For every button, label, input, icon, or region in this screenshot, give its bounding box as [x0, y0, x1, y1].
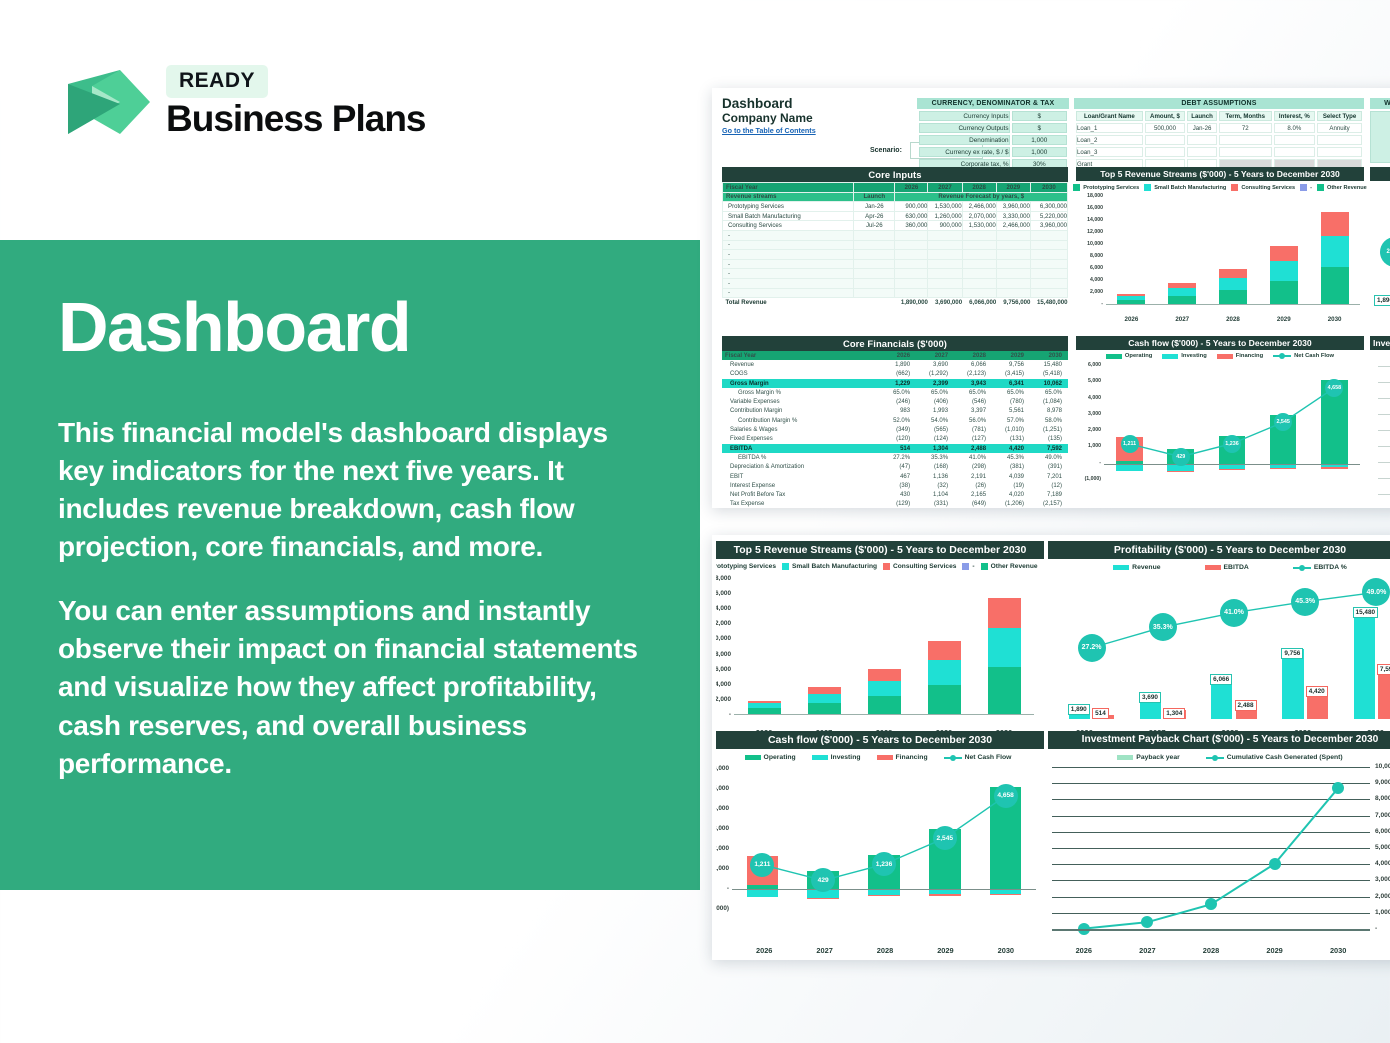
gridline — [1378, 414, 1390, 415]
chart-plot-area: -2,0004,0006,0008,00010,00012,00014,0001… — [716, 579, 1034, 719]
bar-segment — [1219, 269, 1247, 278]
core-input-cell[interactable]: 630,000 — [895, 211, 928, 221]
financial-cell: (298) — [954, 463, 992, 472]
debt-cell[interactable] — [1187, 147, 1217, 157]
core-input-cell[interactable]: - — [723, 230, 854, 240]
financial-cell: 15,480 — [1030, 360, 1068, 369]
table-row: Depreciation & Amortization(47)(168)(298… — [722, 463, 1068, 472]
y-tick-label: 6,000 — [1078, 362, 1101, 368]
financial-cell: (120) — [881, 435, 916, 444]
x-tick-label: 2030 — [1306, 946, 1370, 955]
legend-item: Consulting Services — [883, 563, 956, 570]
chart-plot-area: 1,8905143,6901,3046,0662,4889,7564,42015… — [1048, 577, 1390, 719]
financial-cell: 65.0% — [954, 388, 992, 397]
debt-cell[interactable] — [1219, 147, 1272, 157]
core-input-cell[interactable] — [895, 259, 928, 269]
core-input-cell[interactable] — [1030, 250, 1067, 260]
bar-segment — [1219, 290, 1247, 305]
page-title: Dashboard — [58, 292, 645, 362]
ebitda-pct-bubble: 41.0% — [1220, 599, 1248, 627]
y-tick-label: 14,000 — [1078, 217, 1103, 223]
core-input-cell[interactable]: Jul-26 — [854, 221, 895, 231]
core-input-cell[interactable] — [854, 288, 895, 298]
y-tick-label: - — [1078, 301, 1103, 307]
chart-x-axis: 20262027202820292030 — [734, 946, 1036, 955]
chart-cash-flow-large[interactable]: Cash flow ($'000) - 5 Years to December … — [716, 731, 1044, 959]
financial-cell: (5,418) — [1030, 370, 1068, 379]
chart-title: Top 5 Revenue Streams ($'000) - 5 Years … — [1076, 167, 1364, 181]
core-input-cell[interactable] — [895, 230, 928, 240]
currency-value[interactable]: $ — [1012, 111, 1067, 121]
financial-cell: (47) — [881, 463, 916, 472]
y-tick-label: 4,000 — [716, 681, 731, 688]
x-axis-line — [1052, 929, 1370, 931]
bar-financing — [1321, 467, 1348, 468]
core-input-cell[interactable] — [996, 240, 1030, 250]
core-input-cell[interactable]: 3,960,000 — [1030, 221, 1067, 231]
y-tick-label: 16,000 — [716, 590, 731, 597]
y-tick-label: (1,000) — [716, 905, 729, 912]
financial-cell: (1,292) — [916, 370, 954, 379]
financial-cell: (1,251) — [1030, 425, 1068, 434]
financial-cell: 56.0% — [954, 416, 992, 425]
year-cell: 2026 — [895, 183, 928, 193]
core-input-cell[interactable] — [962, 259, 996, 269]
core-input-cell[interactable] — [962, 250, 996, 260]
financial-row-label: Net Profit Before Tax — [722, 490, 881, 499]
chart-plot-area: (1,000)-1,0002,0003,0004,0005,0006,0001,… — [716, 769, 1036, 935]
year-cell: 2028 — [962, 183, 996, 193]
debt-cell[interactable] — [1274, 147, 1316, 157]
financial-cell: (32) — [916, 481, 954, 490]
legend-item: Financing — [877, 754, 928, 761]
total-cell: 9,756,000 — [996, 298, 1030, 308]
bar-segment — [988, 628, 1021, 667]
core-input-cell[interactable]: Apr-26 — [854, 211, 895, 221]
zero-axis-line — [732, 889, 1036, 890]
debt-cell[interactable] — [1145, 135, 1185, 145]
bar-segment — [1168, 288, 1196, 296]
legend-item: Small Batch Manufacturing — [1144, 184, 1226, 191]
financial-cell: 6,066 — [954, 360, 992, 369]
financial-cell: 430 — [881, 490, 916, 499]
table-row: - — [723, 250, 1068, 260]
table-row: EBITDA %27.2%35.3%41.0%45.3%49.0% — [722, 453, 1068, 462]
total-revenue-label: Total Revenue — [723, 298, 854, 308]
y-tick-label: 14,000 — [716, 605, 731, 612]
currency-row: Denomination1,000 — [919, 135, 1067, 145]
financial-cell: 2,399 — [916, 379, 954, 388]
core-input-cell[interactable] — [962, 240, 996, 250]
fiscal-year-label: Fiscal Year — [722, 351, 881, 360]
table-row: Interest Expense(38)(32)(26)(19)(12) — [722, 481, 1068, 490]
total-cell: 15,480,000 — [1030, 298, 1067, 308]
core-input-cell[interactable] — [996, 250, 1030, 260]
table-row: Fixed Expenses(120)(124)(127)(131)(135) — [722, 435, 1068, 444]
core-financials-table: Fiscal Year 2026 2027 2028 2029 2030 Rev… — [722, 351, 1068, 508]
x-tick-label: 2027 — [1157, 316, 1208, 323]
table-row: Small Batch ManufacturingApr-26630,0001,… — [723, 211, 1068, 221]
core-input-cell[interactable] — [854, 259, 895, 269]
financial-cell: 57.0% — [992, 416, 1030, 425]
core-input-cell[interactable]: 900,000 — [928, 221, 962, 231]
core-input-cell[interactable]: Small Batch Manufacturing — [723, 211, 854, 221]
financial-row-label: Contribution Margin — [722, 407, 881, 416]
currency-value[interactable]: $ — [1012, 123, 1067, 133]
core-input-cell[interactable]: - — [723, 269, 854, 279]
core-input-cell[interactable] — [928, 259, 962, 269]
bar-segment — [1117, 294, 1145, 296]
core-input-cell[interactable] — [854, 278, 895, 288]
table-row: Tax Expense(129)(331)(649)(1,206)(2,157) — [722, 500, 1068, 508]
legend-item: Prototyping Services — [1073, 184, 1139, 191]
financial-cell: 1,229 — [881, 379, 916, 388]
core-input-cell[interactable]: 360,000 — [895, 221, 928, 231]
core-input-cell[interactable]: 3,330,000 — [996, 211, 1030, 221]
table-of-contents-link[interactable]: Go to the Table of Contents — [722, 126, 816, 135]
y-tick-label: 4,000 — [1375, 860, 1390, 867]
core-input-cell[interactable] — [1030, 278, 1067, 288]
financial-cell: 983 — [881, 407, 916, 416]
zero-axis-line — [1104, 464, 1360, 465]
chart-x-axis: 20262027202820292030 — [1052, 946, 1370, 955]
chart-investment-payback[interactable]: Investment Payback Chart ($'000) - 5 Yea… — [1048, 731, 1390, 959]
core-input-cell[interactable] — [928, 269, 962, 279]
core-input-cell[interactable] — [996, 269, 1030, 279]
debt-cell[interactable] — [1187, 135, 1217, 145]
financial-cell: (1,084) — [1030, 397, 1068, 406]
fiscal-year-label: Fiscal Year — [723, 183, 854, 193]
chart-plot-area: (1,000)-1,0002,0003,0004,0005,0006,0001,… — [1078, 366, 1360, 502]
core-input-cell[interactable] — [996, 288, 1030, 298]
financial-cell: 65.0% — [1030, 388, 1068, 397]
core-input-cell[interactable]: 2,466,000 — [996, 221, 1030, 231]
pct-bubble: 27.2% — [1380, 237, 1390, 267]
core-input-cell[interactable]: 900,000 — [895, 202, 928, 212]
core-input-cell[interactable] — [962, 278, 996, 288]
currency-value[interactable]: 1,000 — [1012, 147, 1067, 157]
bar-financing — [990, 894, 1022, 896]
bar-segment — [868, 669, 901, 681]
financial-cell: 1,993 — [916, 407, 954, 416]
financial-cell: (662) — [881, 370, 916, 379]
x-axis-line — [734, 714, 1034, 715]
year-cell: 2030 — [1030, 351, 1068, 360]
legend-item: Operating — [1106, 353, 1152, 359]
total-cell: 3,690,000 — [928, 298, 962, 308]
table-row: - — [723, 240, 1068, 250]
financial-cell: (12) — [1030, 481, 1068, 490]
revenue-streams-header-row: Revenue streams Launch Revenue Forecast … — [723, 192, 1068, 202]
y-tick-label: 3,000 — [716, 825, 729, 832]
bar-investing — [1116, 464, 1143, 471]
financial-cell: (2,123) — [954, 370, 992, 379]
x-tick-label: 2027 — [1116, 946, 1180, 955]
y-tick-label: 12,000 — [1078, 229, 1103, 235]
legend-item: Consulting Services — [1231, 184, 1295, 191]
financial-cell: (780) — [992, 397, 1030, 406]
y-tick-label: 10,000 — [716, 635, 731, 642]
x-tick-label: 2029 — [915, 946, 975, 955]
bar-financing — [1167, 471, 1194, 472]
core-input-cell[interactable] — [854, 269, 895, 279]
currency-value[interactable]: 1,000 — [1012, 135, 1067, 145]
legend-item: Operating — [745, 754, 796, 761]
financial-cell: 1,890 — [881, 360, 916, 369]
table-row: COGS(662)(1,292)(2,123)(3,415)(5,418) — [722, 370, 1068, 379]
core-input-cell[interactable] — [996, 259, 1030, 269]
y-tick-label: 2,000 — [1375, 893, 1390, 900]
core-inputs-section-title: Core Inputs — [722, 167, 1068, 182]
bar-segment — [808, 694, 841, 704]
debt-cell[interactable]: Loan_3 — [1076, 147, 1143, 157]
gridline — [1378, 478, 1390, 479]
chart-profitability[interactable]: Profitability ($'000) - 5 Years to Decem… — [1048, 541, 1390, 741]
debt-cell[interactable] — [1317, 147, 1362, 157]
financial-cell: 27.2% — [881, 453, 916, 462]
bar-financing — [1219, 469, 1246, 470]
financial-cell: 7,201 — [1030, 472, 1068, 481]
chart-legend: Prototyping Services Small Batch Manufac… — [1076, 184, 1364, 191]
legend-item: - — [1300, 184, 1312, 191]
core-input-cell[interactable] — [1030, 230, 1067, 240]
core-input-cell[interactable] — [895, 288, 928, 298]
core-input-cell[interactable] — [895, 278, 928, 288]
financial-cell: 6,341 — [992, 379, 1030, 388]
gridline — [1378, 430, 1390, 431]
debt-cell[interactable] — [1219, 135, 1272, 145]
x-tick-label: 2028 — [1179, 946, 1243, 955]
year-cell: 2029 — [996, 183, 1030, 193]
financial-cell: (649) — [954, 500, 992, 508]
bar-investing — [747, 889, 779, 897]
table-row: Gross Margin %65.0%65.0%65.0%65.0%65.0% — [722, 388, 1068, 397]
core-input-cell[interactable] — [962, 230, 996, 240]
core-input-cell[interactable] — [1030, 240, 1067, 250]
currency-row: Currency Inputs$ — [919, 111, 1067, 121]
currency-row: Currency ex rate, $ / $1,000 — [919, 147, 1067, 157]
table-row: Prototyping ServicesJan-26900,0001,530,0… — [723, 202, 1068, 212]
chart-partial-right[interactable]: 27.2% 1,890 — [1370, 167, 1390, 325]
chart-title: Investment Payback Chart ($'000) - 5 Yea… — [1048, 731, 1390, 749]
gridline — [1378, 462, 1390, 463]
y-tick-label: 12,000 — [716, 620, 731, 627]
financial-cell: 2,165 — [954, 490, 992, 499]
core-input-cell[interactable] — [928, 230, 962, 240]
core-input-cell[interactable]: - — [723, 240, 854, 250]
debt-cell[interactable]: 8.0% — [1274, 123, 1316, 133]
bar-segment — [1117, 296, 1145, 300]
bar-financing — [807, 898, 839, 899]
core-input-cell[interactable] — [854, 230, 895, 240]
financial-cell: (124) — [916, 435, 954, 444]
y-tick-label: - — [716, 711, 731, 718]
financial-row-label: EBITDA % — [722, 453, 881, 462]
core-input-cell[interactable] — [895, 240, 928, 250]
table-row: - — [723, 259, 1068, 269]
chart-legend: Revenue EBITDA EBITDA % — [1048, 564, 1390, 571]
core-input-cell[interactable] — [996, 278, 1030, 288]
core-input-cell[interactable]: Jan-26 — [854, 202, 895, 212]
bar-segment — [1168, 283, 1196, 288]
financial-cell: 1,304 — [916, 444, 954, 453]
core-input-cell[interactable] — [854, 250, 895, 260]
table-row: Salaries & Wages(349)(565)(781)(1,010)(1… — [722, 425, 1068, 434]
net-cash-flow-bubble: 2,545 — [933, 826, 957, 850]
chart-partial-investment[interactable]: Inve — [1370, 336, 1390, 508]
financial-cell: 467 — [881, 472, 916, 481]
core-input-cell[interactable] — [928, 250, 962, 260]
financial-cell: (246) — [881, 397, 916, 406]
core-input-cell[interactable] — [962, 288, 996, 298]
financial-cell: (349) — [881, 425, 916, 434]
financial-cell: (26) — [954, 481, 992, 490]
sheet-company-name: Company Name — [722, 111, 816, 126]
scenario-label: Scenario: — [870, 147, 902, 154]
core-input-cell[interactable]: - — [723, 259, 854, 269]
bar-segment — [1270, 261, 1298, 281]
chart-revenue-streams-large[interactable]: Top 5 Revenue Streams ($'000) - 5 Years … — [716, 541, 1044, 741]
core-input-cell[interactable]: Consulting Services — [723, 221, 854, 231]
debt-cell[interactable]: Loan_1 — [1076, 123, 1143, 133]
financial-cell: 45.3% — [992, 453, 1030, 462]
core-input-cell[interactable]: 3,960,000 — [996, 202, 1030, 212]
gridline — [1378, 398, 1390, 399]
core-input-cell[interactable] — [928, 288, 962, 298]
core-input-cell[interactable] — [854, 240, 895, 250]
financial-cell: (381) — [992, 463, 1030, 472]
bar-segment — [1321, 212, 1349, 236]
legend-item: Other Revenue — [981, 563, 1038, 570]
y-tick-label: 4,000 — [716, 805, 729, 812]
y-tick-label: 16,000 — [1078, 205, 1103, 211]
core-input-cell[interactable] — [928, 240, 962, 250]
debt-cell[interactable]: 500,000 — [1145, 123, 1185, 133]
gridline — [1378, 366, 1390, 367]
core-input-cell[interactable] — [1030, 269, 1067, 279]
core-input-cell[interactable] — [996, 230, 1030, 240]
debt-cell[interactable]: Loan_2 — [1076, 135, 1143, 145]
legend-item: Net Cash Flow — [1273, 353, 1334, 359]
financial-cell: 35.3% — [916, 453, 954, 462]
launch-label: Launch — [854, 192, 895, 202]
core-input-cell[interactable]: - — [723, 278, 854, 288]
table-row: EBITDA5141,3042,4884,4207,592 — [722, 444, 1068, 453]
debt-cell[interactable]: 72 — [1219, 123, 1272, 133]
play-triangle-logo-icon — [58, 56, 150, 148]
year-cell: 2027 — [928, 183, 962, 193]
core-input-cell[interactable]: 2,070,000 — [962, 211, 996, 221]
core-input-cell[interactable]: 1,530,000 — [928, 202, 962, 212]
dashboard-sheet-top[interactable]: Dashboard Company Name Go to the Table o… — [712, 88, 1390, 508]
brand-badge: READY — [166, 65, 268, 98]
debt-cell[interactable]: Annuity — [1317, 123, 1362, 133]
year-cell: 2027 — [916, 351, 954, 360]
bar-segment — [1321, 267, 1349, 305]
core-input-cell[interactable] — [962, 269, 996, 279]
legend-item: Investing — [812, 754, 861, 761]
table-row: Contribution Margin %52.0%54.0%56.0%57.0… — [722, 416, 1068, 425]
debt-cell[interactable] — [1145, 147, 1185, 157]
currency-label: Denomination — [919, 135, 1010, 145]
chart-revenue-streams[interactable]: Top 5 Revenue Streams ($'000) - 5 Years … — [1076, 167, 1364, 325]
financial-cell: 2,488 — [954, 444, 992, 453]
intro-paragraph-1: This financial model's dashboard display… — [58, 414, 645, 566]
table-row: Net Profit Before Tax4301,1042,1654,0207… — [722, 490, 1068, 499]
table-row: Loan_2 — [1076, 135, 1362, 145]
core-input-cell[interactable] — [895, 250, 928, 260]
core-input-cell[interactable]: 6,300,000 — [1030, 202, 1067, 212]
financial-row-label: EBITDA — [722, 444, 881, 453]
debt-cell[interactable] — [1274, 135, 1316, 145]
x-tick-label: 2026 — [734, 946, 794, 955]
chart-cash-flow[interactable]: Cash flow ($'000) - 5 Years to December … — [1076, 336, 1364, 508]
core-input-cell[interactable]: 1,530,000 — [962, 221, 996, 231]
financial-cell: 65.0% — [992, 388, 1030, 397]
chart-x-axis: 20262027202820292030 — [1106, 316, 1360, 323]
financial-row-label: Gross Margin % — [722, 388, 881, 397]
financial-cell: 52.0% — [881, 416, 916, 425]
financial-cell: 3,397 — [954, 407, 992, 416]
currency-row: Currency Outputs$ — [919, 123, 1067, 133]
core-input-cell[interactable]: - — [723, 288, 854, 298]
financial-cell: (391) — [1030, 463, 1068, 472]
core-input-cell[interactable]: Prototyping Services — [723, 202, 854, 212]
intro-paragraph-2: You can enter assumptions and instantly … — [58, 592, 645, 782]
table-row: Variable Expenses(246)(406)(546)(780)(1,… — [722, 397, 1068, 406]
core-input-cell[interactable]: 5,220,000 — [1030, 211, 1067, 221]
table-row: - — [723, 278, 1068, 288]
financial-cell: 3,690 — [916, 360, 954, 369]
legend-item: Small Batch Manufacturing — [782, 563, 877, 570]
financial-cell: 3,943 — [954, 379, 992, 388]
y-tick-label: 6,000 — [716, 666, 731, 673]
table-row: Gross Margin1,2292,3993,9436,34110,062 — [722, 379, 1068, 388]
financial-cell: 4,039 — [992, 472, 1030, 481]
core-inputs-table: Fiscal Year 2026 2027 2028 2029 2030 Rev… — [722, 182, 1068, 307]
debt-column-header: Launch — [1187, 111, 1217, 121]
bar-segment — [1321, 236, 1349, 267]
financial-cell: (1,010) — [992, 425, 1030, 434]
y-tick-label: 9,000 — [1375, 779, 1390, 786]
debt-cell[interactable]: Jan-26 — [1187, 123, 1217, 133]
core-input-cell[interactable]: 1,260,000 — [928, 211, 962, 221]
dashboard-sheet-bottom[interactable]: Top 5 Revenue Streams ($'000) - 5 Years … — [712, 535, 1390, 960]
financial-row-label: Fixed Expenses — [722, 435, 881, 444]
legend-item: Other Revenue — [1317, 184, 1367, 191]
core-input-cell[interactable] — [895, 269, 928, 279]
core-input-cell[interactable]: - — [723, 250, 854, 260]
core-input-cell[interactable]: 2,466,000 — [962, 202, 996, 212]
intro-panel: Dashboard This financial model's dashboa… — [0, 240, 700, 890]
chart-title: Cash flow ($'000) - 5 Years to December … — [1076, 336, 1364, 350]
financial-cell: (2,157) — [1030, 500, 1068, 508]
bar-segment — [748, 701, 781, 704]
x-tick-label: 2029 — [1258, 316, 1309, 323]
chart-legend: Payback year Cumulative Cash Generated (… — [1048, 754, 1390, 761]
bar-segment — [1270, 246, 1298, 261]
table-row: Loan_3 — [1076, 147, 1362, 157]
core-input-cell[interactable] — [928, 278, 962, 288]
core-input-cell[interactable] — [1030, 288, 1067, 298]
debt-cell[interactable] — [1317, 135, 1362, 145]
financial-cell: 58.0% — [1030, 416, 1068, 425]
core-input-cell[interactable] — [1030, 259, 1067, 269]
chart-legend: Operating Investing Financing Net Cash F… — [1076, 353, 1364, 359]
bar-financing — [1270, 468, 1297, 469]
financials-year-row: Fiscal Year 2026 2027 2028 2029 2030 — [722, 351, 1068, 360]
financial-cell: (3,415) — [992, 370, 1030, 379]
